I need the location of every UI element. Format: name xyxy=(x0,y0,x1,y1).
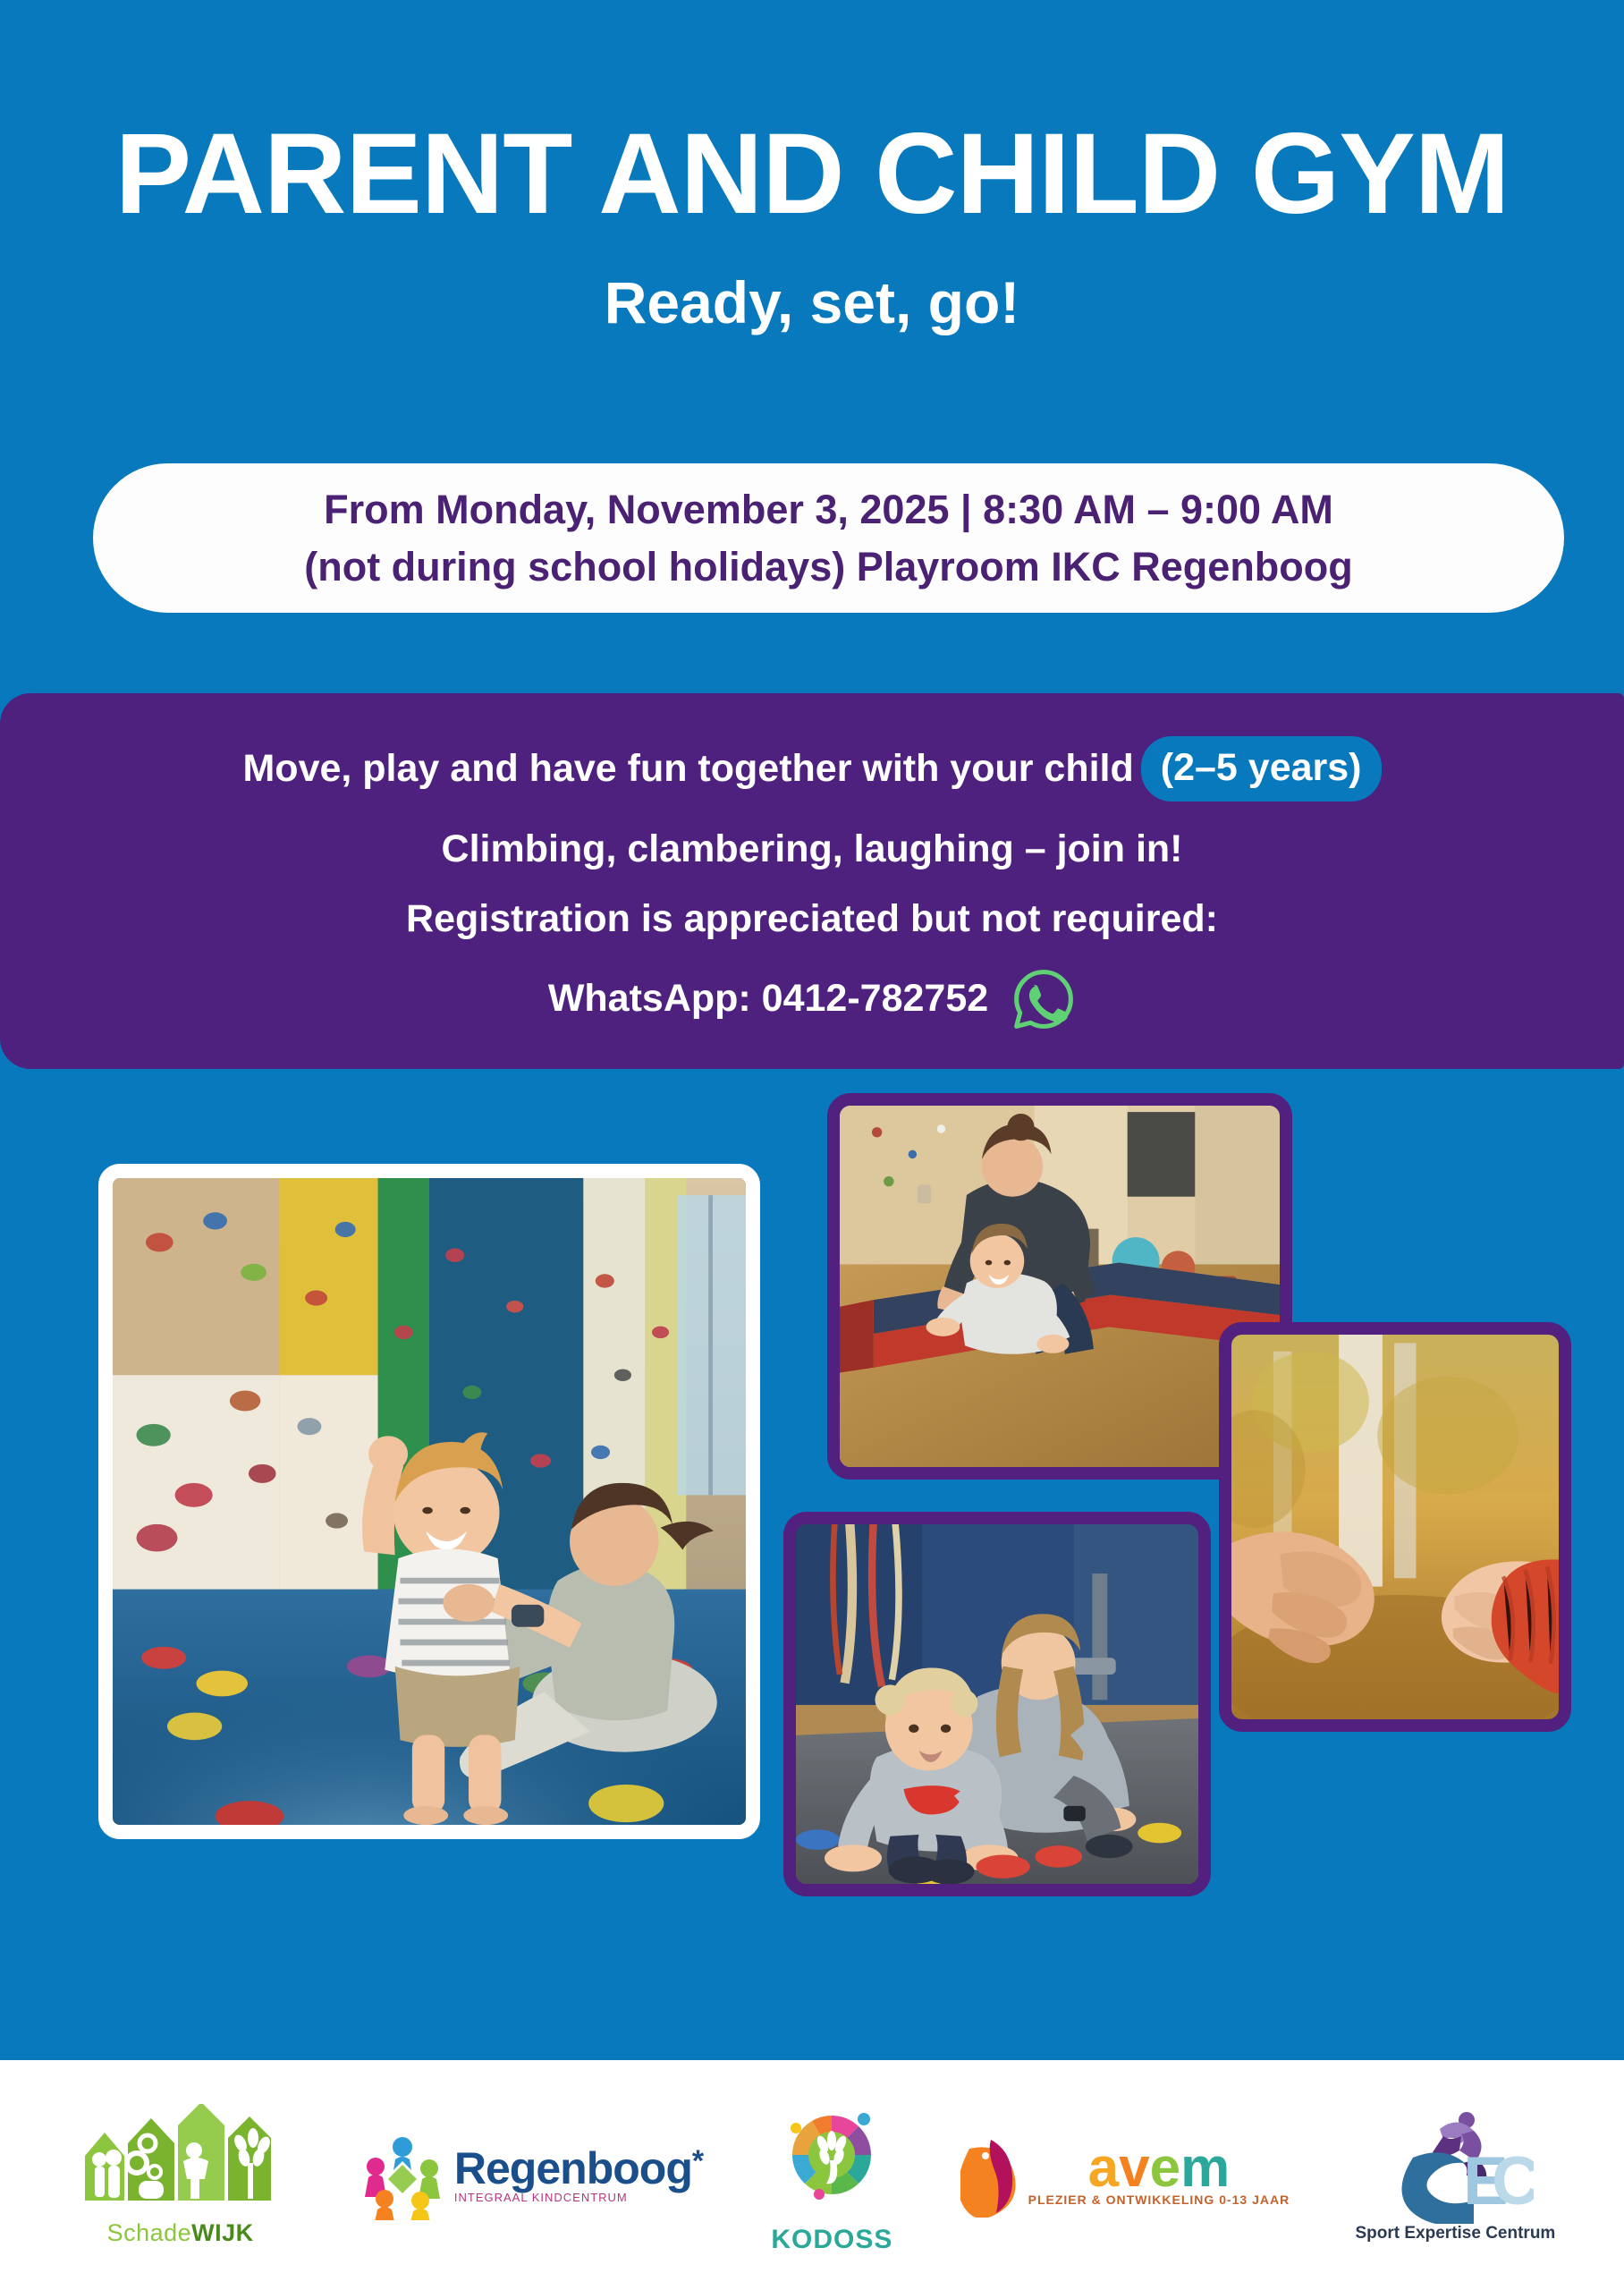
schedule-datetime: From Monday, November 3, 2025 | 8:30 AM … xyxy=(324,481,1333,539)
avem-bird-icon xyxy=(960,2133,1023,2218)
info-line-description: Climbing, clambering, laughing – join in… xyxy=(442,828,1183,870)
page-subtitle: Ready, set, go! xyxy=(0,270,1624,335)
regenboog-icon xyxy=(358,2131,447,2220)
whatsapp-contact[interactable]: WhatsApp: 0412-782752 xyxy=(548,967,1076,1031)
logo-schadewijk-caption: SchadeWIJK xyxy=(107,2219,254,2247)
sponsor-logo-strip: SchadeWIJK xyxy=(0,2060,1624,2290)
schedule-box: From Monday, November 3, 2025 | 8:30 AM … xyxy=(93,463,1564,613)
logo-regenboog-tagline: INTEGRAAL KINDCENTRUM xyxy=(454,2191,628,2204)
photo-baby-on-balance-beam-image xyxy=(840,1106,1280,1467)
info-line-registration: Registration is appreciated but not requ… xyxy=(406,898,1218,940)
logo-regenboog-wordmark: Regenboog xyxy=(454,2146,692,2191)
photo-toddler-cheering-with-parent xyxy=(98,1164,760,1839)
svg-text:C: C xyxy=(1492,2143,1534,2219)
logo-sec-tagline: Sport Expertise Centrum xyxy=(1356,2224,1556,2243)
kodoss-icon xyxy=(769,2096,894,2221)
info-line-activity: Move, play and have fun together with yo… xyxy=(242,736,1381,801)
info-line-activity-text: Move, play and have fun together with yo… xyxy=(242,748,1133,790)
logo-kodoss-caption: KODOSS xyxy=(771,2225,892,2255)
logo-schadewijk-caption-light: Schade xyxy=(107,2219,192,2246)
age-range-badge: (2–5 years) xyxy=(1141,736,1382,801)
photo-child-crawling-with-parent xyxy=(783,1512,1211,1896)
logo-schadewijk: SchadeWIJK xyxy=(69,2104,292,2247)
logo-regenboog: Regenboog * INTEGRAAL KINDCENTRUM xyxy=(358,2131,704,2220)
sec-icon: E C xyxy=(1377,2108,1534,2224)
whatsapp-number-label: WhatsApp: 0412-782752 xyxy=(548,978,988,1020)
logo-sec: E C Sport Expertise Centrum SEC xyxy=(1356,2108,1556,2243)
whatsapp-icon[interactable] xyxy=(1011,967,1076,1031)
photo-child-crawling-with-parent-image xyxy=(796,1524,1198,1884)
photo-toddler-cheering-with-parent-image xyxy=(113,1178,746,1825)
logo-regenboog-asterisk: * xyxy=(692,2146,704,2176)
photo-adult-and-child-hands-image xyxy=(1231,1335,1559,1719)
logo-kodoss: KODOSS xyxy=(769,2096,894,2255)
page-title: PARENT AND CHILD GYM xyxy=(0,114,1624,234)
poster-root: PARENT AND CHILD GYM Ready, set, go! Fro… xyxy=(0,0,1624,2290)
photo-adult-and-child-hands xyxy=(1219,1322,1571,1732)
logo-avem-tagline: PLEZIER & ONTWIKKELING 0-13 JAAR xyxy=(1028,2192,1290,2207)
schadewijk-icon xyxy=(69,2104,292,2216)
schedule-location: (not during school holidays) Playroom IK… xyxy=(304,539,1353,596)
info-band: Move, play and have fun together with yo… xyxy=(0,693,1624,1069)
logo-avem: avem PLEZIER & ONTWIKKELING 0-13 JAAR av… xyxy=(960,2133,1290,2218)
logo-schadewijk-caption-bold: WIJK xyxy=(191,2219,254,2246)
